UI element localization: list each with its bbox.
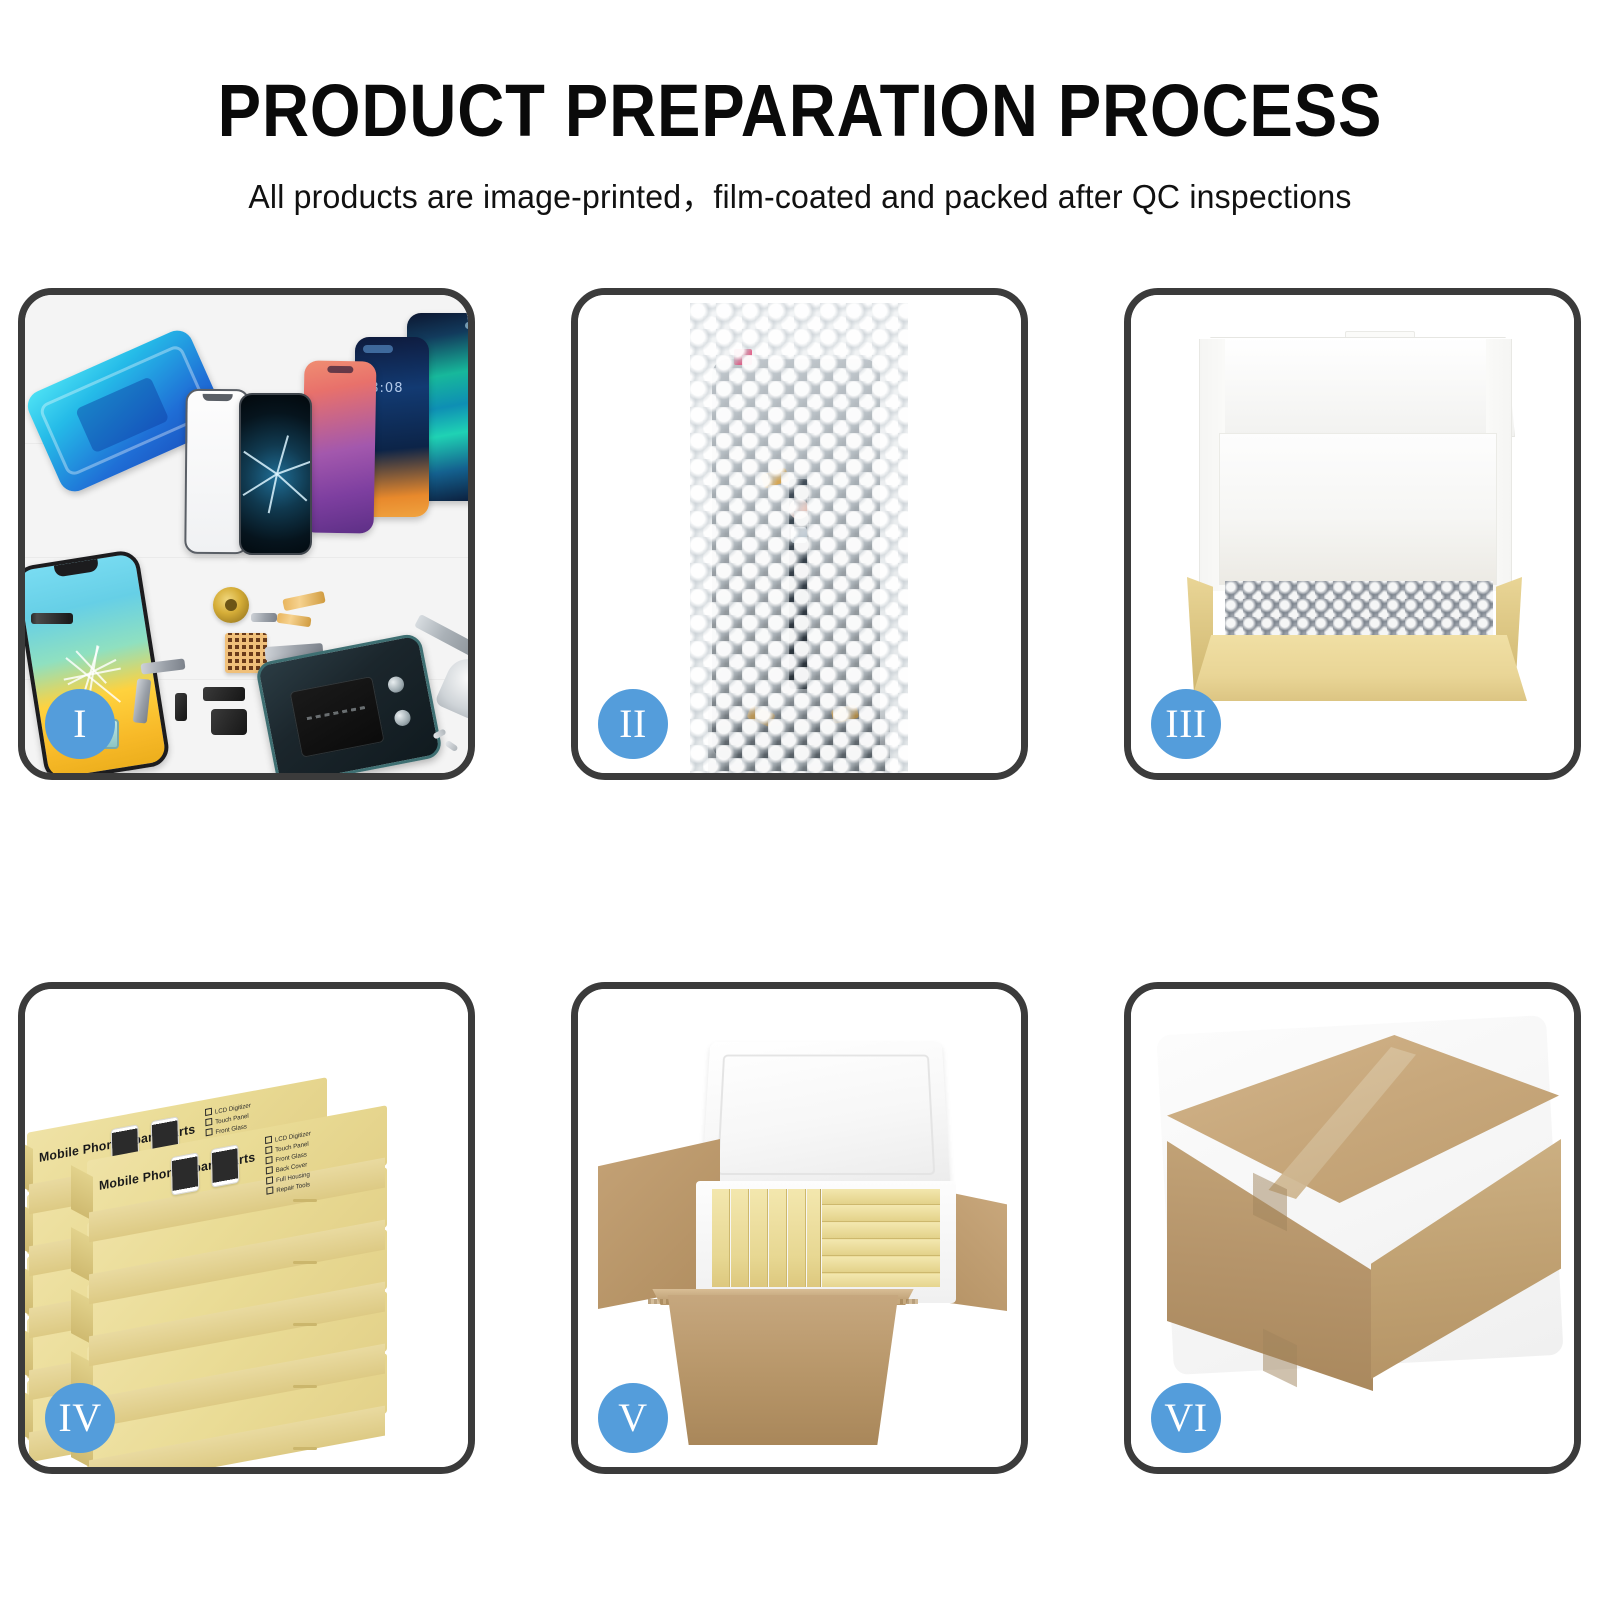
- page-title: PRODUCT PREPARATION PROCESS: [96, 74, 1504, 148]
- flex-cable-gold-2: [276, 613, 311, 628]
- phone-display-cracked-dark: [239, 393, 312, 555]
- page-header: PRODUCT PREPARATION PROCESS All products…: [0, 0, 1600, 218]
- step-badge-1: I: [45, 689, 115, 759]
- step-card-2[interactable]: II: [571, 288, 1028, 780]
- mailer-front-panel: [1191, 635, 1527, 701]
- retail-box-checklist-front: LCD Digitizer Touch Panel Front Glass Ba…: [265, 1129, 312, 1198]
- step-badge-4: IV: [45, 1383, 115, 1453]
- step-card-1[interactable]: 08:08: [18, 288, 475, 780]
- speaker-module-part: [203, 687, 245, 701]
- camera-module-part: [211, 709, 247, 735]
- step-card-4[interactable]: Mobile Phone Spare Parts LCD Digitizer T…: [18, 982, 475, 1474]
- flex-cable-grey-1: [251, 613, 277, 622]
- step-badge-2: II: [598, 689, 668, 759]
- screw-part-2: [444, 740, 458, 752]
- taptic-engine-part: [213, 587, 249, 623]
- foam-insert-sheet: [1219, 433, 1497, 585]
- foam-cooler-lid: [701, 1042, 950, 1190]
- bubble-wrap-texture: [690, 303, 908, 773]
- screwdriver-grip: [434, 652, 468, 726]
- retail-box-printed-front: Mobile Phone Spare Parts LCD Digitizer T…: [87, 1133, 387, 1229]
- step-badge-6: VI: [1151, 1383, 1221, 1453]
- page-subtitle: All products are image-printed，film-coat…: [24, 170, 1576, 218]
- bubble-wrap-bag: [690, 303, 908, 773]
- carton-body: [652, 1295, 914, 1445]
- process-step-grid: 08:08: [18, 288, 1582, 1474]
- bubble-wrap-contents: [1225, 581, 1493, 639]
- mailer-lid-panel: [1201, 337, 1515, 437]
- bracket-part: [175, 693, 187, 721]
- step-card-3[interactable]: III: [1124, 288, 1581, 780]
- phone-display-purple: [302, 360, 377, 533]
- flex-cable-gold-1: [282, 591, 326, 611]
- retail-box-phone-image-front-2: [211, 1144, 240, 1188]
- packed-retail-boxes: [712, 1189, 940, 1287]
- step-card-5[interactable]: V: [571, 982, 1028, 1474]
- step-badge-5: V: [598, 1383, 668, 1453]
- battery-part: [289, 676, 385, 758]
- step-badge-3: III: [1151, 689, 1221, 759]
- step-card-6[interactable]: VI: [1124, 982, 1581, 1474]
- retail-box-phone-image-front-1: [171, 1152, 200, 1196]
- display-connector-part: [31, 613, 73, 624]
